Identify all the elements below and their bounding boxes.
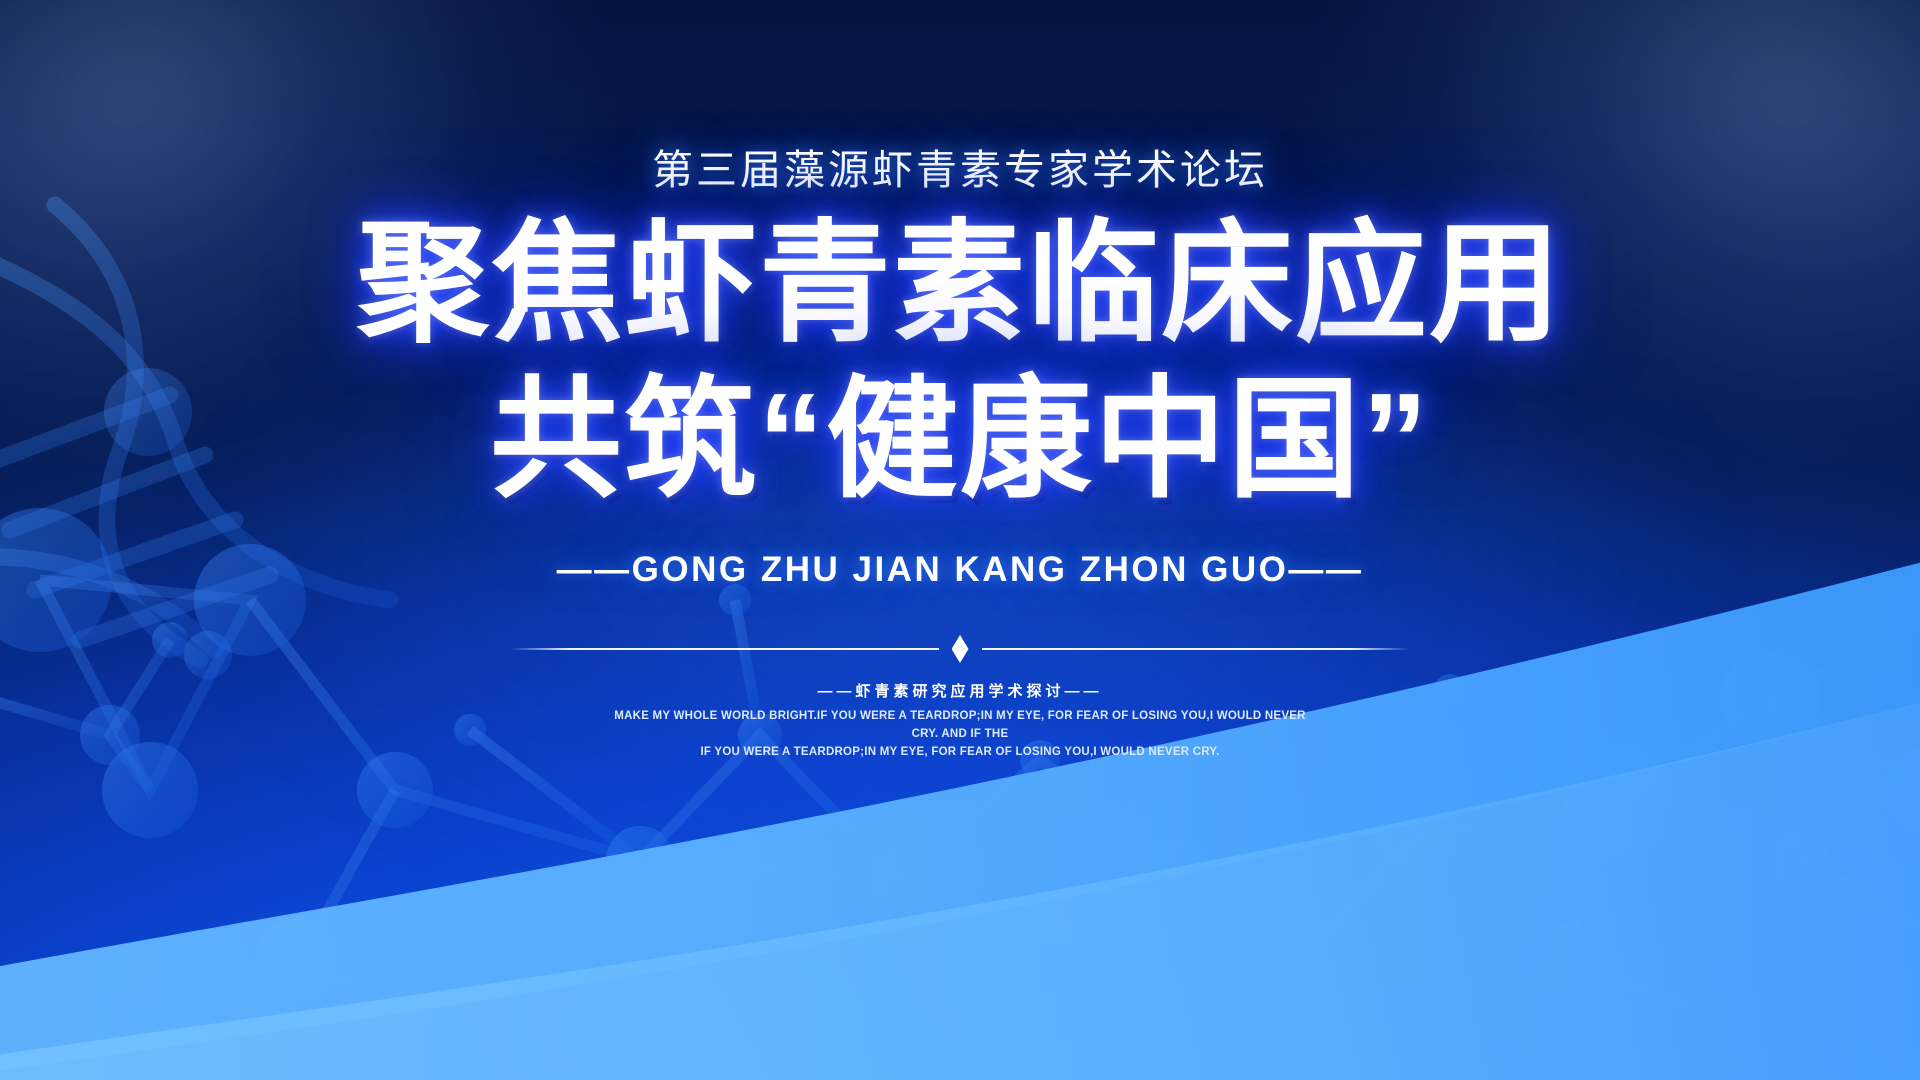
divider-rule-left bbox=[510, 648, 939, 650]
event-subtitle: 第三届藻源虾青素专家学术论坛 bbox=[652, 136, 1268, 196]
chinese-accent-line: ——虾青素研究应用学术探讨—— bbox=[817, 680, 1102, 701]
poster-content: 第三届藻源虾青素专家学术论坛 聚焦虾青素临床应用 共筑“健康中国” ——GONG… bbox=[0, 0, 1920, 1080]
fineprint: MAKE MY WHOLE WORLD BRIGHT.IF YOU WERE A… bbox=[610, 708, 1310, 761]
diamond-icon bbox=[952, 635, 969, 663]
poster-canvas: 第三届藻源虾青素专家学术论坛 聚焦虾青素临床应用 共筑“健康中国” ——GONG… bbox=[0, 0, 1920, 1080]
fineprint-line-1: MAKE MY WHOLE WORLD BRIGHT.IF YOU WERE A… bbox=[610, 708, 1310, 744]
main-title-line-2: 共筑“健康中国” bbox=[490, 374, 1430, 506]
main-title: 聚焦虾青素临床应用 共筑“健康中国” bbox=[357, 218, 1563, 506]
divider-rule-right bbox=[982, 648, 1411, 650]
divider bbox=[510, 638, 1410, 660]
main-title-line-1: 聚焦虾青素临床应用 bbox=[357, 218, 1563, 350]
pinyin-subtitle: ——GONG ZHU JIAN KANG ZHON GUO—— bbox=[557, 550, 1364, 590]
fineprint-line-2: IF YOU WERE A TEARDROP;IN MY EYE, FOR FE… bbox=[610, 744, 1310, 762]
